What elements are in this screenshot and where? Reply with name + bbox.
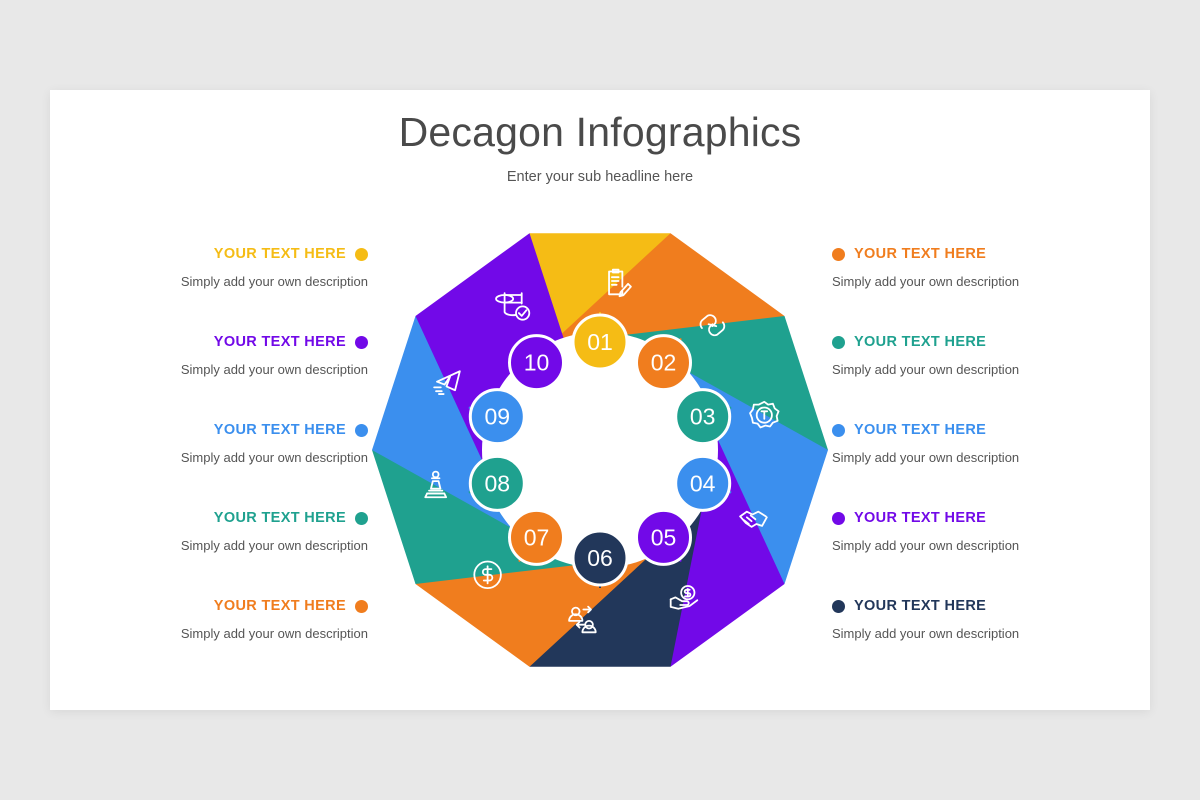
item-description: Simply add your own description [832, 362, 1072, 377]
list-item[interactable]: YOUR TEXT HERE Simply add your own descr… [832, 333, 1072, 421]
list-item[interactable]: YOUR TEXT HERE Simply add your own descr… [832, 245, 1072, 333]
item-description: Simply add your own description [832, 538, 1072, 553]
page-subtitle: Enter your sub headline here [50, 169, 1150, 185]
item-description: Simply add your own description [128, 274, 368, 289]
item-title: YOUR TEXT HERE [854, 598, 986, 614]
number-circle-08[interactable]: 08 [470, 456, 524, 510]
item-title: YOUR TEXT HERE [854, 246, 986, 262]
number-label: 07 [524, 524, 550, 550]
item-description: Simply add your own description [128, 626, 368, 641]
number-label: 05 [651, 524, 677, 550]
item-description: Simply add your own description [128, 538, 368, 553]
item-description: Simply add your own description [832, 626, 1072, 641]
decagon-svg: 01020304050607080910 [365, 215, 835, 685]
item-description: Simply add your own description [832, 274, 1072, 289]
number-label: 08 [485, 470, 511, 496]
number-label: 10 [524, 350, 550, 376]
number-circle-09[interactable]: 09 [470, 390, 524, 444]
item-description: Simply add your own description [128, 362, 368, 377]
number-label: 09 [485, 404, 511, 430]
number-circle-02[interactable]: 02 [637, 336, 691, 390]
number-circle-06[interactable]: 06 [573, 531, 627, 585]
decagon-blades [372, 233, 828, 667]
number-circle-07[interactable]: 07 [510, 510, 564, 564]
number-label: 01 [587, 329, 613, 355]
slide-header: Decagon Infographics Enter your sub head… [50, 110, 1150, 185]
number-label: 04 [690, 470, 716, 496]
list-item[interactable]: YOUR TEXT HERE Simply add your own descr… [832, 597, 1072, 685]
list-item[interactable]: YOUR TEXT HERE Simply add your own descr… [832, 421, 1072, 509]
item-title: YOUR TEXT HERE [214, 334, 346, 350]
left-label-column: YOUR TEXT HERE Simply add your own descr… [128, 245, 368, 685]
number-circle-03[interactable]: 03 [676, 390, 730, 444]
number-circle-01[interactable]: 01 [573, 315, 627, 369]
item-description: Simply add your own description [832, 450, 1072, 465]
list-item[interactable]: YOUR TEXT HERE Simply add your own descr… [128, 509, 368, 597]
number-circle-04[interactable]: 04 [676, 456, 730, 510]
number-label: 06 [587, 545, 613, 571]
number-label: 03 [690, 404, 716, 430]
page-title: Decagon Infographics [50, 110, 1150, 155]
item-title: YOUR TEXT HERE [214, 422, 346, 438]
decagon-wheel: 01020304050607080910 [365, 215, 835, 685]
list-item[interactable]: YOUR TEXT HERE Simply add your own descr… [832, 509, 1072, 597]
item-title: YOUR TEXT HERE [214, 598, 346, 614]
list-item[interactable]: YOUR TEXT HERE Simply add your own descr… [128, 597, 368, 685]
number-label: 02 [651, 350, 677, 376]
item-description: Simply add your own description [128, 450, 368, 465]
list-item[interactable]: YOUR TEXT HERE Simply add your own descr… [128, 333, 368, 421]
number-circle-10[interactable]: 10 [510, 336, 564, 390]
list-item[interactable]: YOUR TEXT HERE Simply add your own descr… [128, 421, 368, 509]
number-circle-05[interactable]: 05 [637, 510, 691, 564]
item-title: YOUR TEXT HERE [854, 422, 986, 438]
slide-canvas: Decagon Infographics Enter your sub head… [50, 90, 1150, 710]
item-title: YOUR TEXT HERE [214, 246, 346, 262]
list-item[interactable]: YOUR TEXT HERE Simply add your own descr… [128, 245, 368, 333]
item-title: YOUR TEXT HERE [854, 334, 986, 350]
item-title: YOUR TEXT HERE [214, 510, 346, 526]
right-label-column: YOUR TEXT HERE Simply add your own descr… [832, 245, 1072, 685]
item-title: YOUR TEXT HERE [854, 510, 986, 526]
